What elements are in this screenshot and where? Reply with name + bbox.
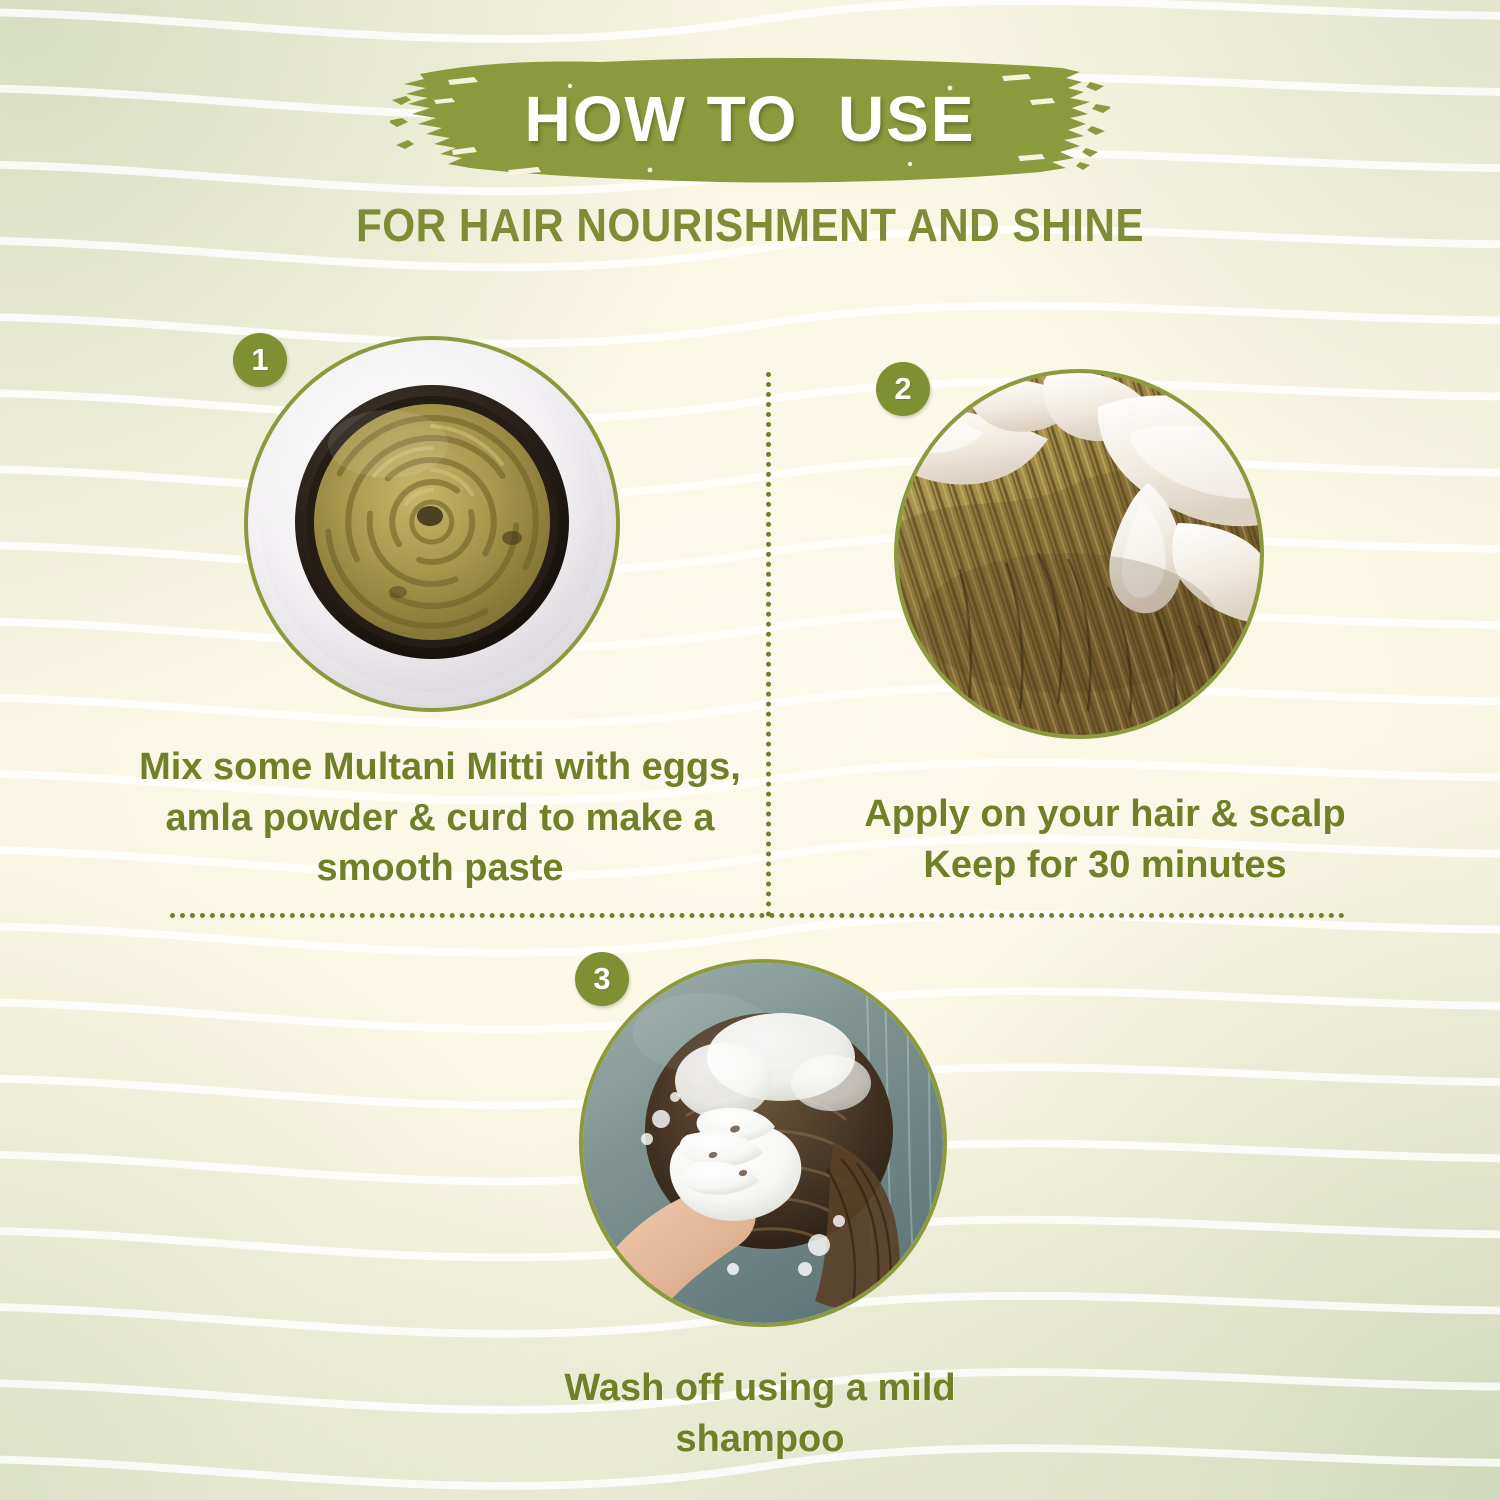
step-3-number-badge: 3 (575, 952, 629, 1006)
step-1-photo (248, 340, 616, 708)
bowl-of-multani-mitti-paste-photo (248, 340, 616, 708)
how-to-use-infographic: HOW TO USE FOR HAIR NOURISHMENT AND SHIN… (0, 0, 1500, 1500)
washing-hair-with-shampoo-photo (583, 963, 943, 1323)
step-1-number-badge: 1 (233, 333, 287, 387)
header: HOW TO USE FOR HAIR NOURISHMENT AND SHIN… (0, 0, 1500, 270)
step-2-caption: Apply on your hair & scalp Keep for 30 m… (830, 789, 1380, 890)
step-2-photo (898, 373, 1260, 735)
page-subtitle: FOR HAIR NOURISHMENT AND SHINE (60, 198, 1440, 252)
page-title: HOW TO USE (0, 82, 1500, 156)
horizontal-dashed-divider (170, 913, 1345, 918)
step-2-number-badge: 2 (876, 362, 930, 416)
vertical-dashed-divider (766, 372, 771, 917)
step-3-caption: Wash off using a mild shampoo (510, 1363, 1010, 1464)
step-3-photo (583, 963, 943, 1323)
step-1-caption: Mix some Multani Mitti with eggs, amla p… (120, 742, 760, 894)
gloved-hands-applying-paste-to-hair-photo (898, 373, 1260, 735)
